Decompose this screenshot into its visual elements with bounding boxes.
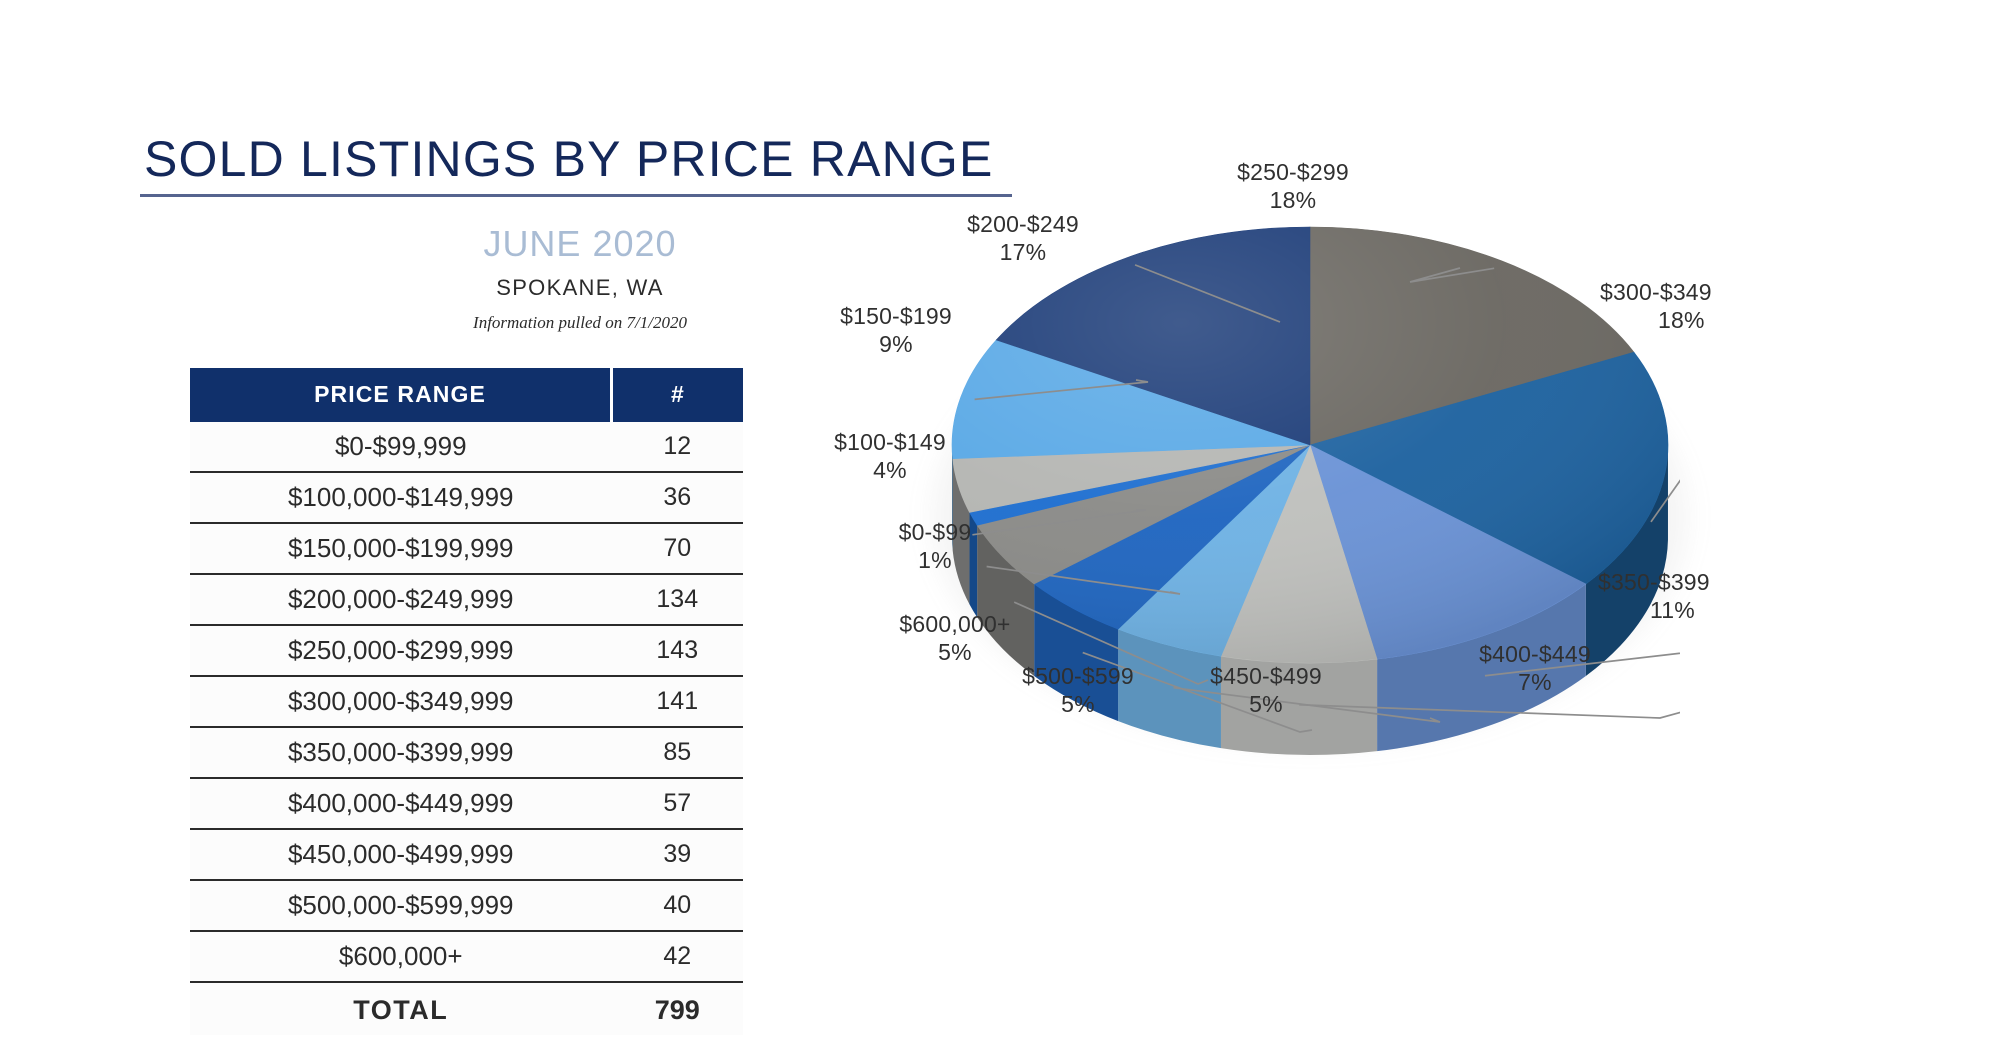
cell-price-range: $450,000-$499,999 xyxy=(190,829,612,880)
pie-label-350-399: $350-$399 11% xyxy=(1598,568,1798,624)
pie-label-percent: 17% xyxy=(928,238,1118,266)
pie-label-text: $450-$499 xyxy=(1210,663,1322,689)
cell-price-range: $250,000-$299,999 xyxy=(190,625,612,676)
cell-count: 143 xyxy=(612,625,744,676)
pie-label-text: $0-$99 xyxy=(899,519,972,545)
cell-price-range: $300,000-$349,999 xyxy=(190,676,612,727)
column-header-count: # xyxy=(612,368,744,422)
price-range-table-container: PRICE RANGE # $0-$99,99912$100,000-$149,… xyxy=(190,368,740,1035)
pie-label-400-449: $400-$449 7% xyxy=(1440,640,1630,696)
cell-total-label: TOTAL xyxy=(190,982,612,1035)
pie-label-text: $400-$449 xyxy=(1479,641,1591,667)
pie-label-100-149: $100-$149 4% xyxy=(800,428,980,484)
cell-count: 70 xyxy=(612,523,744,574)
pie-label-text: $500-$599 xyxy=(1022,663,1134,689)
sold-listings-pie-chart: $250-$299 18% $300-$349 18% $350-$399 11… xyxy=(780,150,1980,1010)
pie-label-text: $100-$149 xyxy=(834,429,946,455)
cell-count: 40 xyxy=(612,880,744,931)
cell-price-range: $150,000-$199,999 xyxy=(190,523,612,574)
pie-top-face xyxy=(952,227,1668,663)
pie-label-600000-plus: $600,000+ 5% xyxy=(860,610,1050,666)
pie-label-percent: 11% xyxy=(1650,596,1798,624)
pie-label-percent: 18% xyxy=(1658,306,1800,334)
pie-label-percent: 1% xyxy=(860,546,1010,574)
cell-price-range: $0-$99,999 xyxy=(190,422,612,472)
table-row: $300,000-$349,999141 xyxy=(190,676,743,727)
cell-price-range: $100,000-$149,999 xyxy=(190,472,612,523)
table-header-row: PRICE RANGE # xyxy=(190,368,743,422)
pie-label-percent: 4% xyxy=(800,456,980,484)
pie-label-text: $350-$399 xyxy=(1598,569,1710,595)
table-row: $100,000-$149,99936 xyxy=(190,472,743,523)
pie-label-text: $300-$349 xyxy=(1600,279,1712,305)
pie-label-percent: 7% xyxy=(1440,668,1630,696)
cell-count: 42 xyxy=(612,931,744,982)
cell-price-range: $350,000-$399,999 xyxy=(190,727,612,778)
pie-label-percent: 18% xyxy=(1188,186,1398,214)
pie-label-percent: 9% xyxy=(806,330,986,358)
table-row: $250,000-$299,999143 xyxy=(190,625,743,676)
pie-label-text: $150-$199 xyxy=(840,303,952,329)
price-range-table: PRICE RANGE # $0-$99,99912$100,000-$149,… xyxy=(190,368,743,1035)
cell-count: 36 xyxy=(612,472,744,523)
table-row: $350,000-$399,99985 xyxy=(190,727,743,778)
cell-price-range: $600,000+ xyxy=(190,931,612,982)
cell-count: 134 xyxy=(612,574,744,625)
pie-label-percent: 5% xyxy=(860,638,1050,666)
cell-price-range: $400,000-$449,999 xyxy=(190,778,612,829)
cell-total-count: 799 xyxy=(612,982,744,1035)
table-head: PRICE RANGE # xyxy=(190,368,743,422)
pie-label-text: $200-$249 xyxy=(967,211,1079,237)
pie-label-450-499: $450-$499 5% xyxy=(1176,662,1356,718)
table-row: $200,000-$249,999134 xyxy=(190,574,743,625)
pie-label-200-249: $200-$249 17% xyxy=(928,210,1118,266)
cell-count: 141 xyxy=(612,676,744,727)
pie-label-text: $250-$299 xyxy=(1237,159,1349,185)
table-total-row: TOTAL799 xyxy=(190,982,743,1035)
cell-count: 57 xyxy=(612,778,744,829)
pie-label-0-99: $0-$99 1% xyxy=(860,518,1010,574)
cell-price-range: $500,000-$599,999 xyxy=(190,880,612,931)
pie-svg xyxy=(940,210,1680,810)
pie-label-500-599: $500-$599 5% xyxy=(988,662,1168,718)
table-row: $500,000-$599,99940 xyxy=(190,880,743,931)
pie-label-percent: 5% xyxy=(988,690,1168,718)
pie-label-percent: 5% xyxy=(1176,690,1356,718)
pie-label-text: $600,000+ xyxy=(899,611,1010,637)
pie-label-150-199: $150-$199 9% xyxy=(806,302,986,358)
table-row: $450,000-$499,99939 xyxy=(190,829,743,880)
column-header-price-range: PRICE RANGE xyxy=(190,368,612,422)
table-row: $600,000+42 xyxy=(190,931,743,982)
pie-label-250-299: $250-$299 18% xyxy=(1188,158,1398,214)
pie-label-300-349: $300-$349 18% xyxy=(1600,278,1800,334)
pie-stage xyxy=(940,210,1680,810)
cell-count: 39 xyxy=(612,829,744,880)
table-row: $150,000-$199,99970 xyxy=(190,523,743,574)
table-row: $0-$99,99912 xyxy=(190,422,743,472)
cell-count: 12 xyxy=(612,422,744,472)
table-body: $0-$99,99912$100,000-$149,99936$150,000-… xyxy=(190,422,743,1035)
table-row: $400,000-$449,99957 xyxy=(190,778,743,829)
cell-count: 85 xyxy=(612,727,744,778)
cell-price-range: $200,000-$249,999 xyxy=(190,574,612,625)
